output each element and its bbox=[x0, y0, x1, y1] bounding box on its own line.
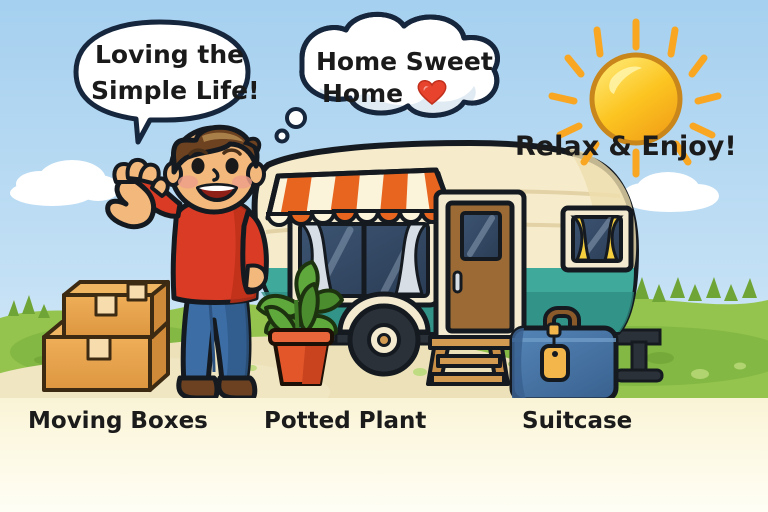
plant-pot bbox=[270, 330, 332, 384]
moving-boxes bbox=[44, 282, 168, 390]
scene-svg: Loving the Simple Life! Home Sweet Home bbox=[0, 0, 768, 512]
caravan-steps bbox=[428, 337, 512, 384]
thought-bubble-line1: Home Sweet bbox=[316, 47, 493, 76]
caravan-window-rear bbox=[563, 208, 631, 270]
label-potted-plant: Potted Plant bbox=[264, 408, 426, 434]
speech-bubble-1-line2: Simple Life! bbox=[91, 76, 259, 105]
thought-bubble-line2: Home bbox=[322, 79, 403, 108]
caravan-door[interactable] bbox=[436, 192, 524, 342]
illustration-canvas: Loving the Simple Life! Home Sweet Home bbox=[0, 0, 768, 512]
relax-enjoy-label: Relax & Enjoy! bbox=[515, 131, 737, 162]
label-moving-boxes: Moving Boxes bbox=[28, 408, 208, 434]
caravan-awning bbox=[268, 170, 452, 225]
label-suitcase: Suitcase bbox=[522, 408, 632, 434]
speech-bubble-1-line1: Loving the bbox=[95, 40, 244, 69]
